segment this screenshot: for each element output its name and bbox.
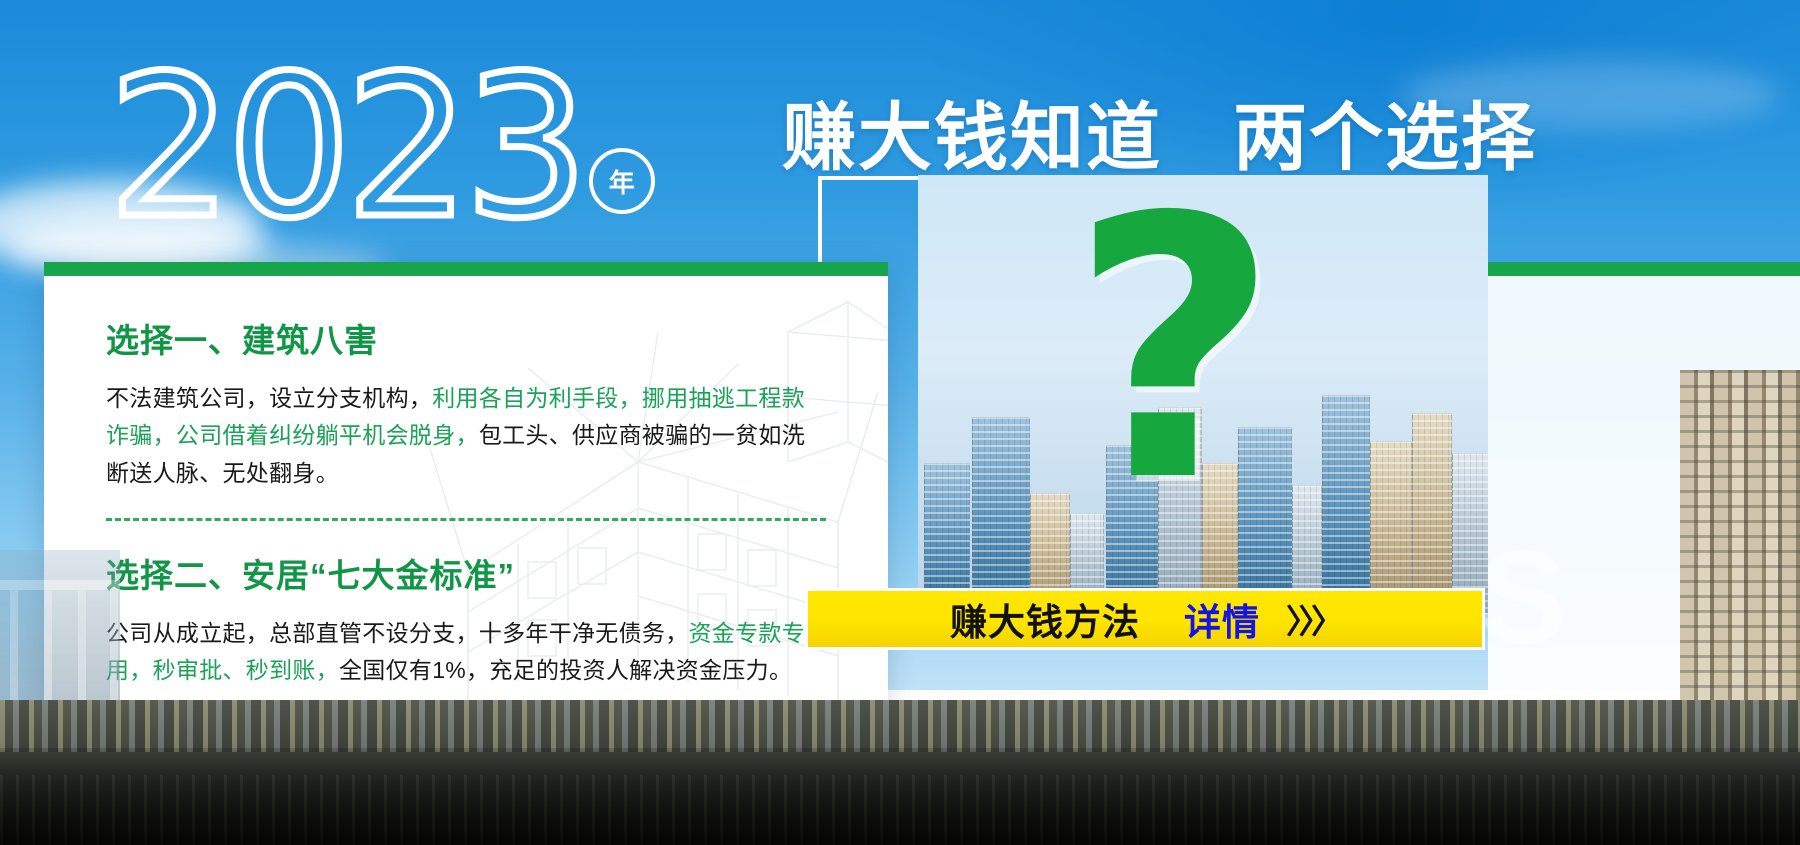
- building: [972, 417, 1030, 613]
- section2-text-black-2: 全国仅有1%，充足的投资人解决资金压力。: [339, 657, 792, 683]
- year-number: 2023: [108, 58, 583, 238]
- content-panel: 选择一、建筑八害 不法建筑公司，设立分支机构，利用各自为利手段，挪用抽逃工程款诈…: [44, 262, 888, 714]
- city-photo-card: ?: [918, 175, 1488, 613]
- section2-text-black-1: 公司从成立起，总部直管不设分支，十多年干净无债务，: [106, 620, 689, 646]
- headline-part1: 赚大钱知道: [782, 96, 1162, 179]
- year-unit-badge: 年: [589, 148, 655, 214]
- right-buildings-decoration: [1680, 370, 1800, 700]
- green-accent-bar: [1488, 262, 1800, 276]
- poster-root: 2023 年 赚大钱知道 两个选择 TWO CHOICES: [0, 0, 1800, 845]
- bridge-decoration: [0, 550, 120, 700]
- water-reflection: [0, 775, 1800, 845]
- section1-text-black-1: 不法建筑公司，设立分支机构，: [106, 385, 432, 411]
- year-badge-group: 2023 年: [108, 58, 655, 238]
- chevron-right-icon: 〉〉〉: [1286, 595, 1340, 643]
- bottom-city-strip: [0, 700, 1800, 845]
- building: [1322, 395, 1370, 613]
- section2-body: 公司从成立起，总部直管不设分支，十多年干净无债务，资金专款专用，秒审批、秒到账，…: [106, 615, 826, 690]
- cta-banner[interactable]: 赚大钱方法 详情 〉〉〉: [805, 588, 1485, 650]
- building: [1412, 413, 1452, 613]
- headline-part2: 两个选择: [1233, 96, 1537, 179]
- cta-link-label[interactable]: 详情: [1184, 592, 1260, 646]
- page-title: 赚大钱知道 两个选择: [782, 78, 1537, 185]
- panel-content: 选择一、建筑八害 不法建筑公司，设立分支机构，利用各自为利手段，挪用抽逃工程款诈…: [44, 262, 888, 689]
- section2-title: 选择二、安居“七大金标准”: [106, 549, 826, 597]
- section-divider: [106, 518, 826, 521]
- section1-title: 选择一、建筑八害: [106, 314, 826, 362]
- question-mark-icon: ?: [1070, 211, 1279, 492]
- section1-body: 不法建筑公司，设立分支机构，利用各自为利手段，挪用抽逃工程款诈骗，公司借着纠纷躺…: [106, 380, 826, 492]
- cta-main-label: 赚大钱方法: [950, 592, 1140, 646]
